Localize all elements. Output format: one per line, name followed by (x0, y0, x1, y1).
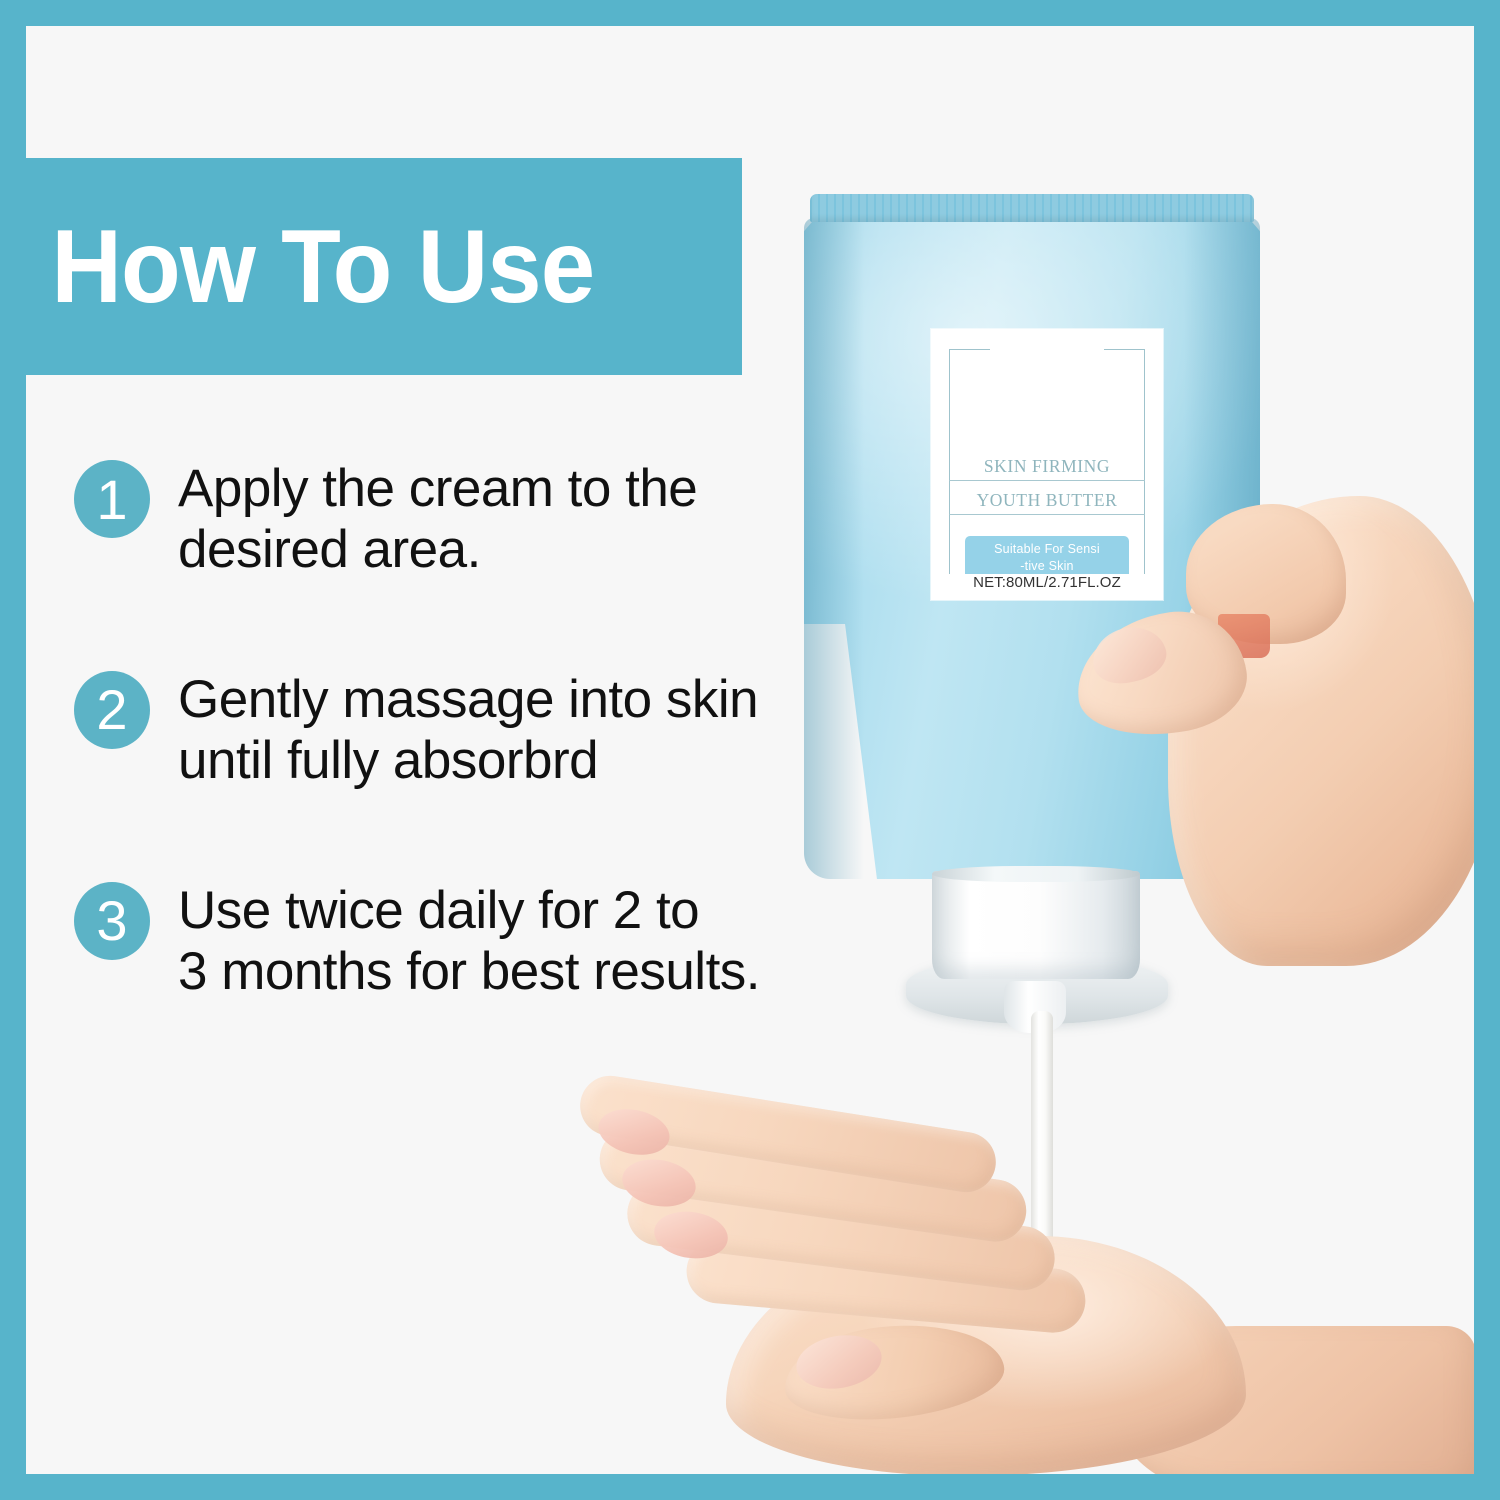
palm-fingertip-1 (594, 1103, 674, 1161)
infographic-frame: SKIN FIRMING YOUTH BUTTER Suitable For S… (26, 26, 1474, 1474)
step-text: Apply the cream to the desired area. (178, 454, 697, 581)
thumb-nail (1087, 620, 1172, 690)
step-number-badge: 2 (74, 671, 150, 749)
product-label: SKIN FIRMING YOUTH BUTTER Suitable For S… (931, 329, 1163, 600)
cream-blob-in-palm (988, 1264, 1096, 1348)
tube-taper-left (804, 624, 1260, 879)
tube-taper-right (804, 624, 1260, 879)
cap-flange (906, 956, 1168, 1024)
tube-body (804, 218, 1260, 879)
cap-nozzle (1004, 981, 1066, 1033)
step-number-badge: 3 (74, 882, 150, 960)
tube-crimp-seal (810, 194, 1254, 222)
tube-shading-right (1184, 218, 1260, 879)
hand-knuckle (1186, 504, 1346, 644)
palm-finger-3 (624, 1178, 1059, 1294)
label-corner-top-left (949, 349, 990, 384)
product-tube (804, 194, 1260, 879)
thumb-on-tube (1068, 603, 1253, 745)
step-text: Gently massage into skin until fully abs… (178, 665, 758, 792)
cap-rim (932, 866, 1140, 882)
label-edge-right (1144, 349, 1145, 586)
label-corner-top-right (1104, 349, 1145, 384)
palm-finger-2 (596, 1124, 1030, 1245)
open-palm (726, 1236, 1246, 1474)
cream-drip (1014, 1244, 1072, 1304)
product-name-line-1: SKIN FIRMING (949, 456, 1145, 481)
palm-finger-1 (576, 1072, 1000, 1197)
palm-thumb (780, 1315, 1008, 1429)
wrist (1116, 1326, 1474, 1474)
step-item: 3 Use twice daily for 2 to 3 months for … (74, 876, 864, 1003)
cream-stream (1031, 1011, 1053, 1281)
label-edge-left (949, 349, 950, 586)
suitable-for-sensitive-skin-badge: Suitable For Sensi -tive Skin (965, 536, 1129, 580)
finger-between-gap (1218, 614, 1270, 658)
label-border-frame: SKIN FIRMING YOUTH BUTTER Suitable For S… (949, 349, 1145, 586)
page-title: How To Use (26, 215, 594, 319)
hand-holding-tube (1168, 496, 1474, 966)
step-number-badge: 1 (74, 460, 150, 538)
step-item: 1 Apply the cream to the desired area. (74, 454, 864, 581)
palm-finger-4 (684, 1237, 1088, 1336)
tube-cap (932, 871, 1140, 979)
label-corner-bottom-right (1104, 551, 1145, 586)
net-weight-text: NET:80ML/2.71FL.OZ (949, 574, 1145, 591)
step-text: Use twice daily for 2 to 3 months for be… (178, 876, 760, 1003)
step-item: 2 Gently massage into skin until fully a… (74, 665, 864, 792)
palm-thumb-nail (792, 1329, 886, 1395)
label-corner-bottom-left (949, 551, 990, 586)
palm-fingertip-3 (651, 1207, 731, 1263)
how-to-use-banner: How To Use (26, 158, 742, 375)
product-name-line-2: YOUTH BUTTER (949, 490, 1145, 515)
palm-fingertip-2 (619, 1154, 700, 1212)
steps-list: 1 Apply the cream to the desired area. 2… (74, 454, 864, 1087)
